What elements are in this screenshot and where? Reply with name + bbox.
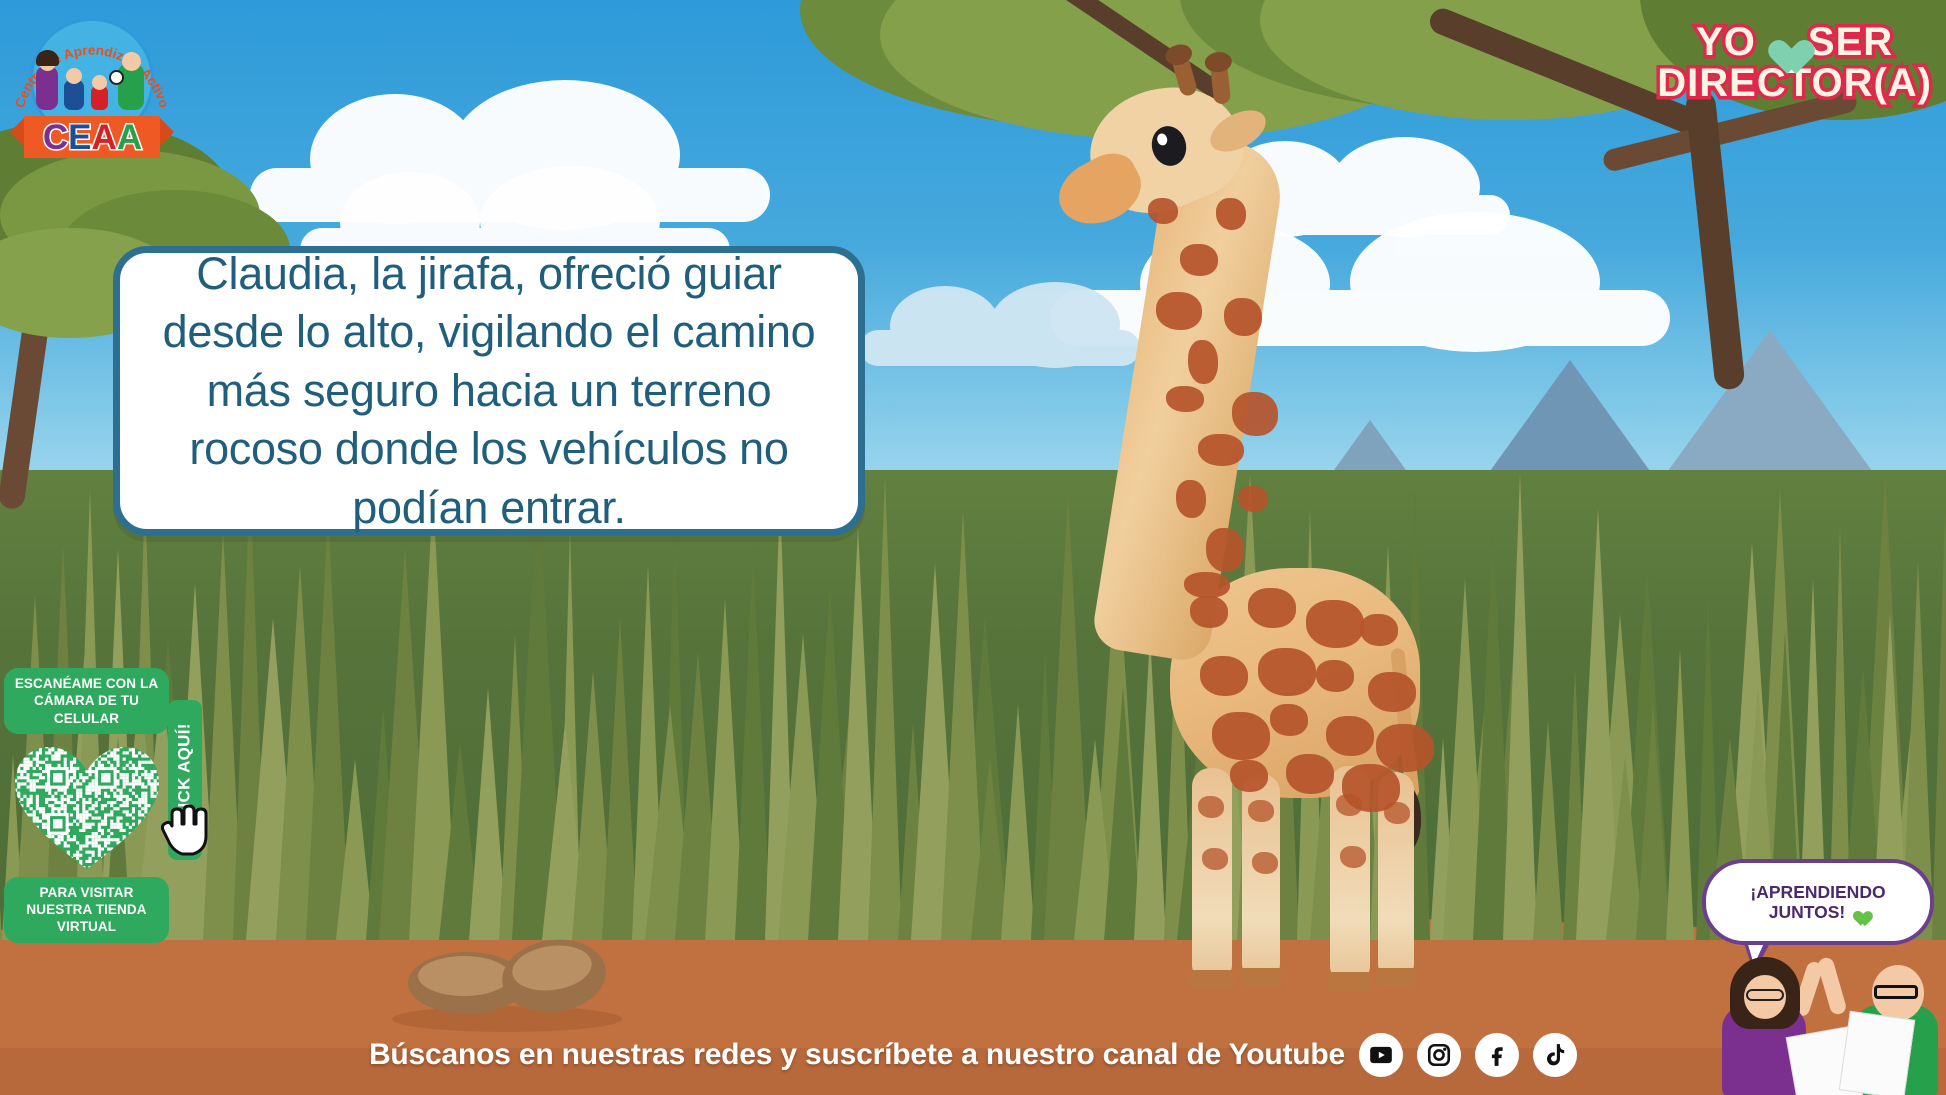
giraffe-spot — [1176, 480, 1206, 518]
giraffe-spot — [1306, 600, 1364, 648]
giraffe-spot — [1148, 198, 1178, 224]
grass-blade — [1666, 649, 1694, 940]
youtube-icon[interactable] — [1359, 1033, 1403, 1077]
giraffe-spot — [1200, 656, 1248, 696]
giraffe-spot — [1384, 802, 1410, 824]
qr-code-heart-icon[interactable] — [11, 739, 163, 873]
giraffe-spot — [1238, 486, 1268, 512]
slide-canvas: Claudia, la jirafa, ofreció guiar desde … — [0, 0, 1946, 1095]
giraffe-spot — [1336, 794, 1362, 816]
badge-line1-ser: SER — [1808, 22, 1893, 63]
yo-amo-ser-director-badge: YO SER DIRECTOR(A) — [1657, 22, 1932, 104]
giraffe-hoof — [1190, 970, 1234, 990]
footer-social-banner: Búscanos en nuestras redes y suscríbete … — [0, 1025, 1946, 1085]
giraffe-spot — [1180, 244, 1218, 276]
giraffe-spot — [1368, 672, 1416, 712]
ribbon-right-notch — [160, 118, 174, 146]
story-text-card: Claudia, la jirafa, ofreció guiar desde … — [113, 246, 865, 536]
teacher-arm — [1816, 956, 1847, 1016]
grass-blade — [1533, 720, 1563, 940]
logo-ribbon: CEAA — [10, 112, 174, 162]
ribbon-left-notch — [10, 118, 24, 146]
bubble-line2-wrap: JUNTOS! — [1769, 902, 1868, 922]
giraffe-spot — [1188, 340, 1218, 384]
ceaa-logo[interactable]: Centro de Aprendizaje Activo CEAA — [8, 4, 176, 166]
qr-code-heart-icon[interactable] — [11, 739, 163, 873]
bubble-line1: ¡APRENDIENDO — [1750, 882, 1885, 902]
teacher-glasses — [1874, 985, 1918, 999]
logo-face — [92, 75, 107, 90]
giraffe-spot — [1190, 596, 1228, 628]
logo-hair — [36, 50, 59, 66]
logo-child-boy — [64, 80, 84, 110]
logo-letter: C — [43, 118, 67, 158]
pointing-hand-cursor-icon — [160, 800, 212, 858]
giraffe-spot — [1202, 848, 1228, 870]
giraffe-spot — [1316, 660, 1354, 692]
giraffe-spot — [1252, 852, 1278, 874]
giraffe-spot — [1232, 392, 1278, 436]
qr-scan-label: ESCANÉAME CON LA CÁMARA DE TU CELULAR — [4, 668, 169, 734]
rock-highlight — [418, 956, 510, 996]
logo-letter: A — [117, 118, 141, 158]
giraffe-spot — [1286, 754, 1334, 794]
heart-icon — [1849, 904, 1867, 920]
giraffe-spot — [1198, 434, 1244, 466]
qr-store-label: PARA VISITAR NUESTRA TIENDA VIRTUAL — [4, 877, 169, 943]
logo-face — [122, 52, 141, 71]
giraffe-hoof — [1240, 968, 1282, 987]
qr-promo-panel[interactable]: ESCANÉAME CON LA CÁMARA DE TU CELULAR PA… — [4, 668, 169, 943]
grass-blade — [868, 475, 902, 940]
giraffe-spot — [1270, 704, 1308, 736]
grass-blade — [1503, 473, 1537, 940]
tiktok-icon[interactable] — [1533, 1033, 1577, 1077]
instagram-icon[interactable] — [1417, 1033, 1461, 1077]
teachers-illustration: ¡APRENDIENDO JUNTOS! — [1696, 865, 1946, 1095]
giraffe-hoof — [1376, 968, 1416, 987]
logo-letter: E — [68, 118, 90, 158]
facebook-icon[interactable] — [1475, 1033, 1519, 1077]
logo-letter: A — [92, 118, 116, 158]
giraffe-spot — [1212, 712, 1270, 760]
giraffe-spot — [1224, 298, 1262, 336]
giraffe-illustration — [980, 48, 1410, 978]
giraffe-spot — [1206, 528, 1244, 572]
heart-icon — [1762, 24, 1802, 60]
story-text: Claudia, la jirafa, ofreció guiar desde … — [120, 245, 858, 538]
giraffe-spot — [1230, 760, 1268, 792]
giraffe-spot — [1248, 588, 1296, 628]
logo-person-mother — [36, 66, 58, 110]
giraffe-spot — [1326, 716, 1374, 756]
logo-face — [66, 68, 82, 84]
giraffe-spot — [1216, 198, 1246, 230]
giraffe-spot — [1166, 386, 1204, 412]
giraffe-spot — [1156, 292, 1202, 330]
grass-blade — [1636, 702, 1670, 940]
giraffe-spot — [1184, 572, 1230, 598]
bubble-line2: JUNTOS! — [1769, 902, 1846, 922]
footer-text: Búscanos en nuestras redes y suscríbete … — [369, 1038, 1345, 1072]
graded-paper — [1839, 1011, 1915, 1095]
giraffe-spot — [1248, 800, 1274, 822]
logo-acronym: CEAA — [24, 118, 160, 158]
logo-soccer-ball — [109, 70, 124, 85]
giraffe-spot — [1360, 614, 1398, 646]
giraffe-spot — [1340, 846, 1366, 868]
speech-bubble: ¡APRENDIENDO JUNTOS! — [1702, 859, 1934, 945]
giraffe-hoof — [1328, 972, 1372, 992]
giraffe-spot — [1258, 648, 1316, 696]
giraffe-spot — [1376, 724, 1434, 772]
teacher-glasses — [1746, 989, 1784, 1001]
badge-line1-yo: YO — [1696, 22, 1756, 63]
giraffe-horn — [1210, 61, 1231, 105]
giraffe-spot — [1198, 796, 1224, 818]
